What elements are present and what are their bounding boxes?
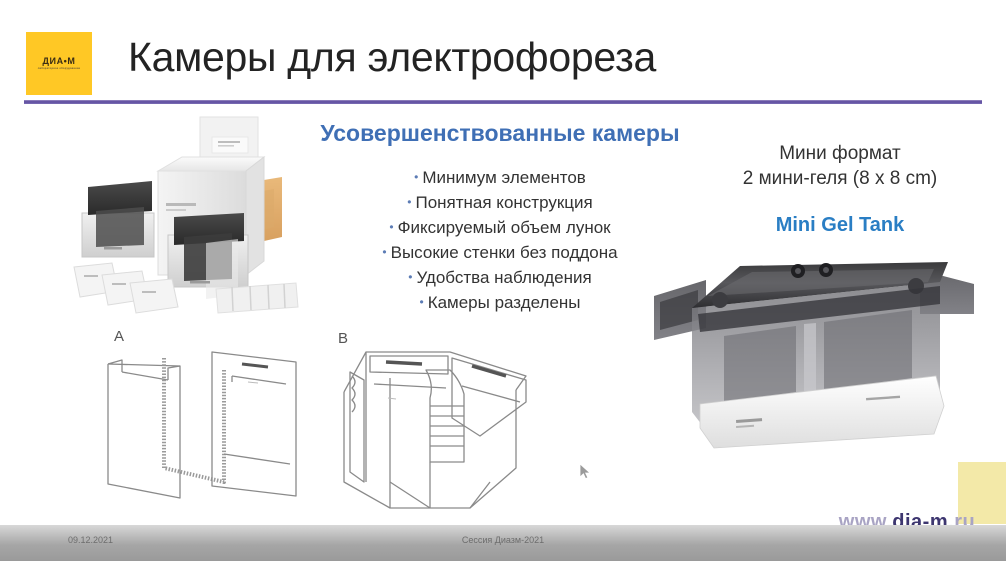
footer-session-label: Сессия Диазм-2021 bbox=[0, 535, 1006, 545]
bullet-icon: • bbox=[414, 170, 418, 184]
header-divider bbox=[24, 100, 982, 104]
bullet-icon: • bbox=[419, 295, 423, 309]
list-item-label: Минимум элементов bbox=[422, 168, 585, 187]
list-item-label: Удобства наблюдения bbox=[416, 268, 591, 287]
list-item-label: Понятная конструкция bbox=[415, 193, 592, 212]
diagram-cassette-holder bbox=[330, 332, 550, 514]
tank-latch-left bbox=[712, 292, 728, 308]
features-list: •Минимум элементов •Понятная конструкция… bbox=[300, 165, 700, 315]
features-heading: Усовершенствованные камеры bbox=[300, 120, 700, 147]
list-item-label: Высокие стенки без поддона bbox=[391, 243, 618, 262]
product-kit-photo bbox=[60, 115, 310, 315]
page-title: Камеры для электрофореза bbox=[128, 34, 656, 81]
product-name: Mini Gel Tank bbox=[690, 214, 990, 237]
company-logo: ДИА•М лабораторное оборудование bbox=[26, 32, 92, 95]
list-item: •Удобства наблюдения bbox=[300, 265, 700, 290]
list-item: •Камеры разделены bbox=[300, 290, 700, 315]
gel-tank-unit-left bbox=[82, 181, 154, 257]
list-item: •Понятная конструкция bbox=[300, 190, 700, 215]
format-caption-line-1: Мини формат bbox=[690, 143, 990, 165]
list-item-label: Фиксируемый объем лунок bbox=[398, 218, 611, 237]
mouse-cursor-icon bbox=[579, 463, 593, 481]
list-item: •Высокие стенки без поддона bbox=[300, 240, 700, 265]
presentation-slide: ДИА•М лабораторное оборудование Камеры д… bbox=[0, 0, 1006, 561]
bullet-icon: • bbox=[389, 220, 393, 234]
bullet-icon: • bbox=[408, 270, 412, 284]
bullet-icon: • bbox=[407, 195, 411, 209]
format-caption-line-2: 2 мини-геля (8 x 8 cm) bbox=[690, 168, 990, 190]
logo-wordmark: ДИА•М лабораторное оборудование bbox=[38, 57, 81, 71]
bullet-icon: • bbox=[382, 245, 386, 259]
diagram-gel-cassette bbox=[100, 336, 340, 511]
list-item-label: Камеры разделены bbox=[428, 293, 581, 312]
list-item: •Минимум элементов bbox=[300, 165, 700, 190]
gel-tank-unit-right bbox=[168, 213, 248, 299]
list-item: •Фиксируемый объем лунок bbox=[300, 215, 700, 240]
mini-gel-tank-photo bbox=[648, 252, 978, 452]
tank-divider bbox=[804, 323, 816, 393]
footer-bar: 09.12.2021 Сессия Диазм-2021 bbox=[0, 525, 1006, 561]
logo-tagline: лабораторное оборудование bbox=[38, 68, 81, 71]
logo-name: ДИА•М bbox=[42, 56, 75, 66]
